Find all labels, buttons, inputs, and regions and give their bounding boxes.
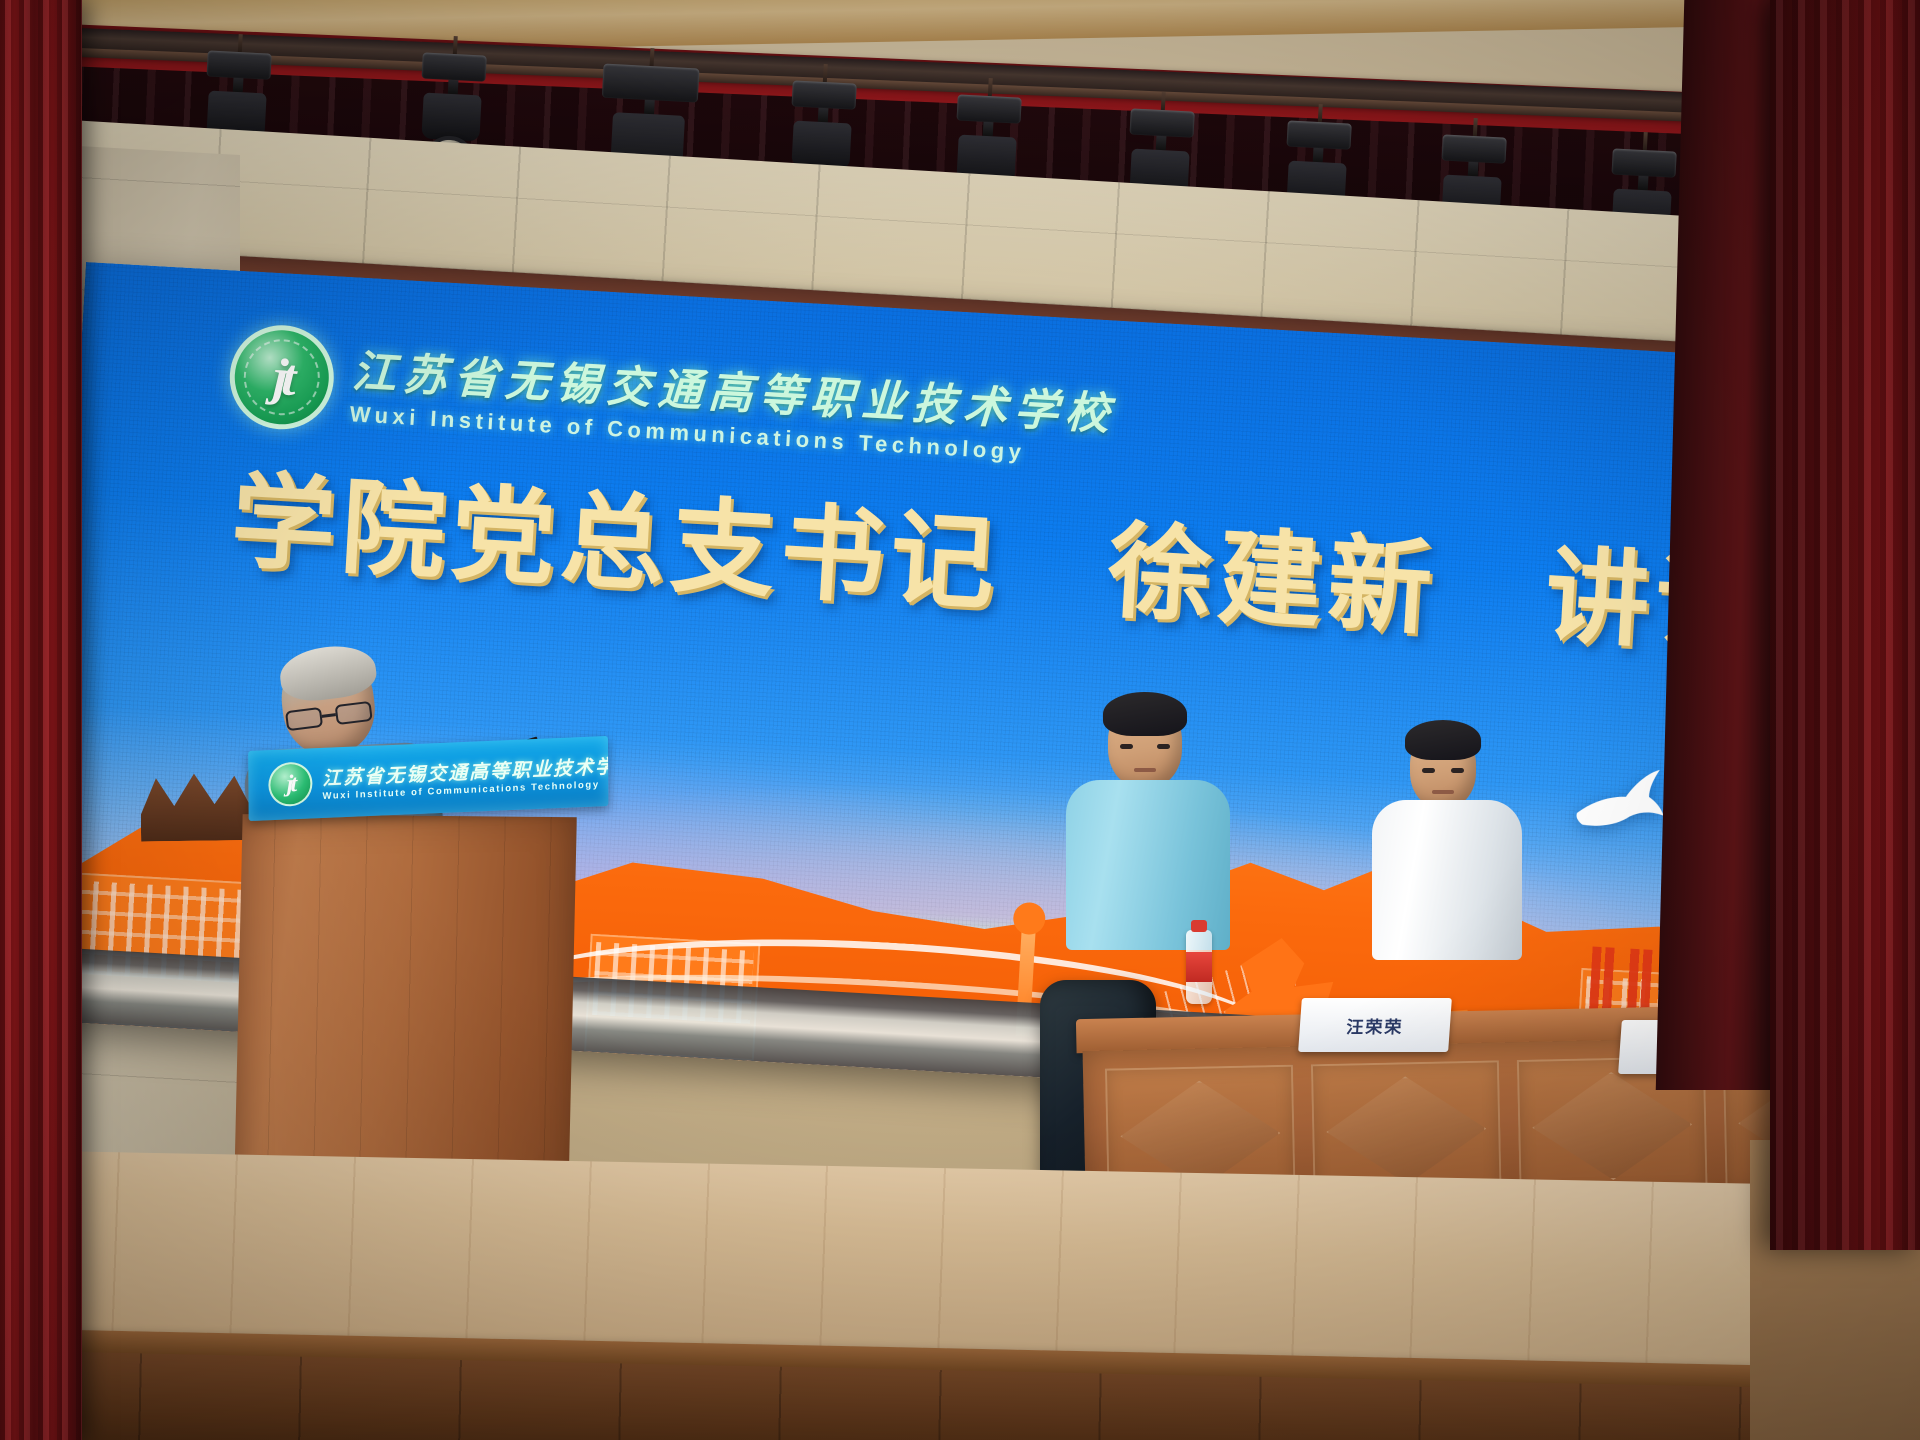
dove-icon xyxy=(1566,764,1667,834)
eye xyxy=(1422,768,1435,773)
podium-name-banner: jt 江苏省无锡交通高等职业技术学校 Wuxi Institute of Com… xyxy=(248,736,608,821)
seated-official xyxy=(1410,728,1476,808)
school-emblem-icon: jt xyxy=(227,322,337,432)
podium-top-shelf xyxy=(140,770,253,842)
mouth xyxy=(1432,790,1454,794)
headline-part2: 徐建新 xyxy=(1105,515,1441,649)
eye xyxy=(1157,744,1170,749)
name-placard-text: 汪荣荣 xyxy=(1346,1013,1405,1038)
podium-body xyxy=(229,809,582,1206)
name-placard: 汪荣荣 xyxy=(1298,998,1452,1052)
official-torso-white-shirt xyxy=(1372,800,1522,960)
eye xyxy=(1451,768,1464,773)
auditorium-stage-scene: jt 江苏省无锡交通高等职业技术学校 Wuxi Institute of Com… xyxy=(0,0,1920,1440)
side-curtain-right xyxy=(1770,0,1920,1250)
podium-banner-text: 江苏省无锡交通高等职业技术学校 Wuxi Institute of Commun… xyxy=(322,751,608,802)
school-emblem-icon: jt xyxy=(268,761,312,807)
official-head xyxy=(1410,728,1476,808)
seated-official xyxy=(1108,700,1182,788)
water-bottle xyxy=(1186,930,1212,1004)
official-hair xyxy=(1405,720,1481,760)
official-hair xyxy=(1103,692,1187,736)
official-head xyxy=(1108,700,1182,788)
emblem-mark: jt xyxy=(272,347,292,407)
emblem-mark: jt xyxy=(287,771,295,798)
side-curtain-left xyxy=(0,0,82,1440)
eye xyxy=(1120,744,1133,749)
mouth xyxy=(1134,768,1156,772)
